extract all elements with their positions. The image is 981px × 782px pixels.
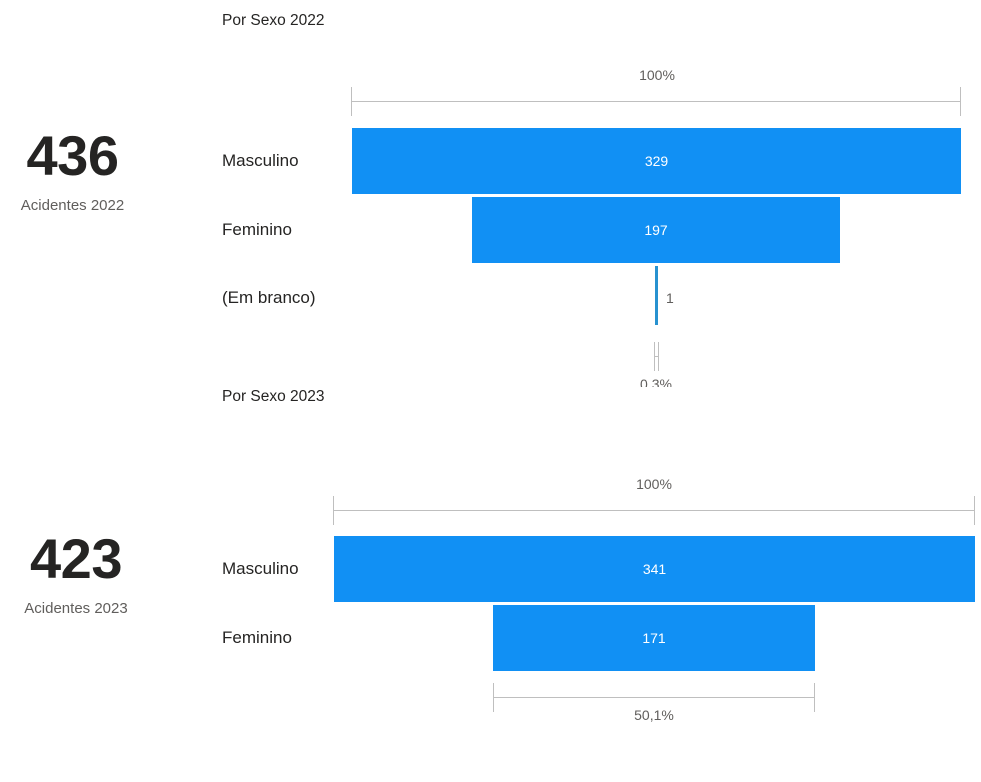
category-label-feminino-2022: Feminino bbox=[222, 219, 292, 241]
ratio-bracket-tick-left-bottom-2023 bbox=[493, 683, 494, 712]
chart-title-2022: Por Sexo 2022 bbox=[222, 11, 325, 31]
bar-value-masculino-2023: 341 bbox=[334, 560, 975, 578]
ratio-bracket-bottom-2022 bbox=[654, 356, 659, 357]
bar-value-em-branco-2022: 1 bbox=[666, 289, 674, 307]
chart-title-2023: Por Sexo 2023 bbox=[222, 387, 325, 407]
ratio-bracket-tick-right-bottom-2023 bbox=[814, 683, 815, 712]
panel-por-sexo-2023[interactable]: 423 Acidentes 2023 Por Sexo 2023 100% Ma… bbox=[0, 387, 981, 782]
kpi-label: Acidentes 2022 bbox=[0, 196, 145, 216]
kpi-acidentes-2022[interactable]: 436 Acidentes 2022 bbox=[0, 128, 145, 216]
bar-em-branco-2022[interactable] bbox=[655, 266, 658, 325]
ratio-bracket-top-2023 bbox=[333, 510, 975, 511]
kpi-acidentes-2023[interactable]: 423 Acidentes 2023 bbox=[0, 531, 152, 619]
ratio-bracket-tick-left-2022 bbox=[351, 87, 352, 116]
ratio-label-top-2023: 100% bbox=[594, 475, 714, 493]
kpi-value: 423 bbox=[0, 531, 152, 587]
ratio-bracket-bottom-2023 bbox=[493, 697, 815, 698]
ratio-label-bottom-2022: 0,3% bbox=[596, 375, 716, 387]
bar-value-feminino-2022: 197 bbox=[472, 221, 840, 239]
kpi-label: Acidentes 2023 bbox=[0, 599, 152, 619]
category-label-feminino-2023: Feminino bbox=[222, 627, 292, 649]
category-label-em-branco-2022: (Em branco) bbox=[222, 287, 316, 309]
panel-por-sexo-2022[interactable]: 436 Acidentes 2022 Por Sexo 2022 100% Ma… bbox=[0, 0, 981, 387]
category-label-masculino-2023: Masculino bbox=[222, 558, 299, 580]
bar-value-feminino-2023: 171 bbox=[493, 629, 815, 647]
ratio-bracket-top-2022 bbox=[351, 101, 961, 102]
ratio-bracket-tick-left-2023 bbox=[333, 496, 334, 525]
bar-value-masculino-2022: 329 bbox=[352, 152, 961, 170]
ratio-label-bottom-2023: 50,1% bbox=[594, 706, 714, 724]
ratio-label-top-2022: 100% bbox=[597, 66, 717, 84]
ratio-bracket-tick-right-2022 bbox=[960, 87, 961, 116]
category-label-masculino-2022: Masculino bbox=[222, 150, 299, 172]
kpi-value: 436 bbox=[0, 128, 145, 184]
ratio-bracket-tick-right-2023 bbox=[974, 496, 975, 525]
